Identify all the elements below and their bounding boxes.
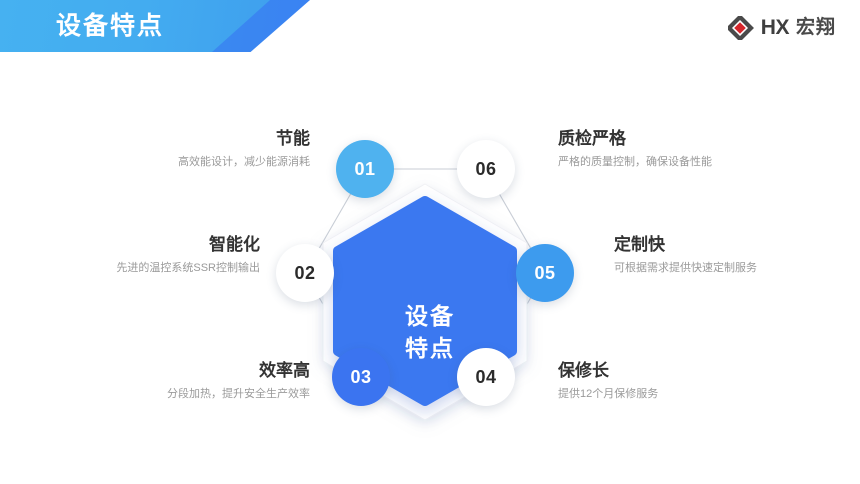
logo-abbr: HX [761, 17, 789, 39]
feature-hexagon-diagram: 设备 特点 01 02 03 04 05 06 节能 高效能设计，减少能源消耗 … [0, 62, 860, 484]
feature-node-03-number: 03 [350, 367, 371, 388]
feature-desc-05: 可根据需求提供快速定制服务 [614, 259, 860, 277]
hx-diamond-logo-icon [728, 16, 754, 40]
feature-text-04: 保修长 提供12个月保修服务 [558, 360, 848, 403]
feature-node-06[interactable]: 06 [457, 140, 515, 198]
feature-node-05-number: 05 [534, 263, 555, 284]
feature-desc-04: 提供12个月保修服务 [558, 385, 848, 403]
feature-node-02-number: 02 [294, 263, 315, 284]
feature-node-03[interactable]: 03 [332, 348, 390, 406]
feature-title-03: 效率高 [20, 360, 310, 382]
feature-desc-03: 分段加热，提升安全生产效率 [20, 385, 310, 403]
feature-text-06: 质检严格 严格的质量控制，确保设备性能 [558, 128, 848, 171]
feature-node-05[interactable]: 05 [516, 244, 574, 302]
feature-title-06: 质检严格 [558, 128, 848, 150]
feature-desc-01: 高效能设计，减少能源消耗 [20, 153, 310, 171]
feature-desc-06: 严格的质量控制，确保设备性能 [558, 153, 848, 171]
brand-logo: HX 宏翔 [728, 16, 836, 40]
feature-title-04: 保修长 [558, 360, 848, 382]
feature-node-06-number: 06 [475, 159, 496, 180]
logo-name-cn: 宏翔 [796, 17, 836, 39]
feature-node-01[interactable]: 01 [336, 140, 394, 198]
feature-node-01-number: 01 [354, 159, 375, 180]
feature-text-01: 节能 高效能设计，减少能源消耗 [20, 128, 310, 171]
feature-node-04-number: 04 [475, 367, 496, 388]
feature-text-02: 智能化 先进的温控系统SSR控制输出 [0, 234, 260, 277]
feature-node-04[interactable]: 04 [457, 348, 515, 406]
feature-title-01: 节能 [20, 128, 310, 150]
feature-title-05: 定制快 [614, 234, 860, 256]
page-header: 设备特点 HX 宏翔 [0, 0, 860, 62]
feature-text-05: 定制快 可根据需求提供快速定制服务 [614, 234, 860, 277]
feature-text-03: 效率高 分段加热，提升安全生产效率 [20, 360, 310, 403]
feature-node-02[interactable]: 02 [276, 244, 334, 302]
page-title: 设备特点 [56, 11, 164, 41]
feature-desc-02: 先进的温控系统SSR控制输出 [0, 259, 260, 277]
feature-title-02: 智能化 [0, 234, 260, 256]
